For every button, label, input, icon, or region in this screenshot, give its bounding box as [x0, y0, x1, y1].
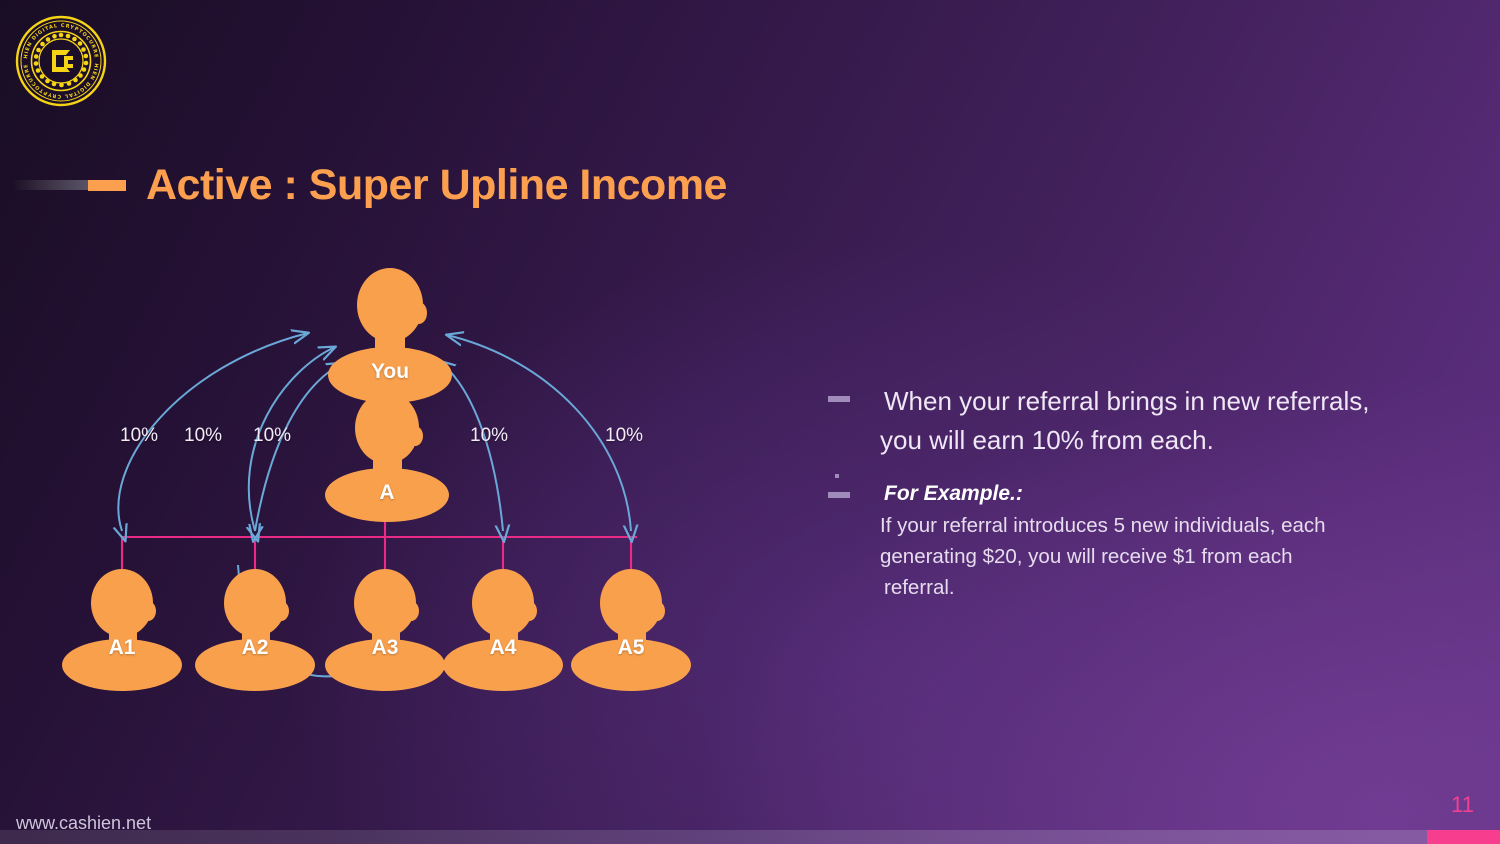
node-label-a3: A3 [345, 636, 425, 660]
bullet-1-line-1: When your referral brings in new referra… [880, 382, 1448, 421]
page-title-row: Active : Super Upline Income [0, 153, 727, 217]
node-label-a4: A4 [463, 636, 543, 660]
page-number: 11 [1451, 792, 1474, 818]
dot-bullet-icon [835, 474, 839, 478]
dash-bullet-icon-2 [828, 492, 850, 498]
node-label-a1: A1 [82, 636, 162, 660]
node-a5 [571, 569, 691, 691]
title-dash-gray-icon [14, 180, 88, 190]
bullet-point-1: When your referral brings in new referra… [828, 382, 1448, 460]
node-label-a: A [347, 481, 427, 505]
percent-label-2: 10% [184, 425, 222, 447]
example-line-1: If your referral introduces 5 new indivi… [880, 510, 1448, 541]
title-dash-orange-icon [88, 180, 126, 191]
referral-tree-diagram: You A A1 A2 A3 A4 A5 10% 10% 10% 10% 10% [40, 265, 740, 745]
cashien-logo: CASHIEN DIGITAL CRYPTOCURRENCY CASHIEN D… [14, 14, 108, 108]
node-a4 [443, 569, 563, 691]
logo-monogram [52, 50, 73, 72]
bottom-accent-bar-pink [1427, 830, 1500, 844]
node-label-a5: A5 [591, 636, 671, 660]
example-line-3: referral. [880, 572, 1448, 603]
bullet-1-line-2: you will earn 10% from each. [880, 421, 1448, 460]
node-a3 [325, 569, 445, 691]
node-a2 [195, 569, 315, 691]
slide-canvas: CASHIEN DIGITAL CRYPTOCURRENCY CASHIEN D… [0, 0, 1500, 844]
logo-bead-ring [34, 33, 89, 88]
node-label-a2: A2 [215, 636, 295, 660]
percent-label-4: 10% [470, 425, 508, 447]
example-heading: For Example.: [880, 482, 1448, 506]
node-label-you: You [350, 360, 430, 384]
bottom-accent-bar [0, 830, 1500, 844]
node-a1 [62, 569, 182, 691]
commission-arc-a3 [255, 363, 343, 531]
percent-label-3: 10% [253, 425, 291, 447]
description-panel: When your referral brings in new referra… [828, 382, 1448, 603]
bullet-point-2: For Example.: If your referral introduce… [828, 482, 1448, 603]
page-title: Active : Super Upline Income [146, 161, 727, 210]
example-line-2: generating $20, you will receive $1 from… [880, 541, 1448, 572]
commission-arcs-right [439, 335, 631, 531]
dash-bullet-icon-1 [828, 396, 850, 402]
percent-label-5: 10% [605, 425, 643, 447]
percent-label-1: 10% [120, 425, 158, 447]
